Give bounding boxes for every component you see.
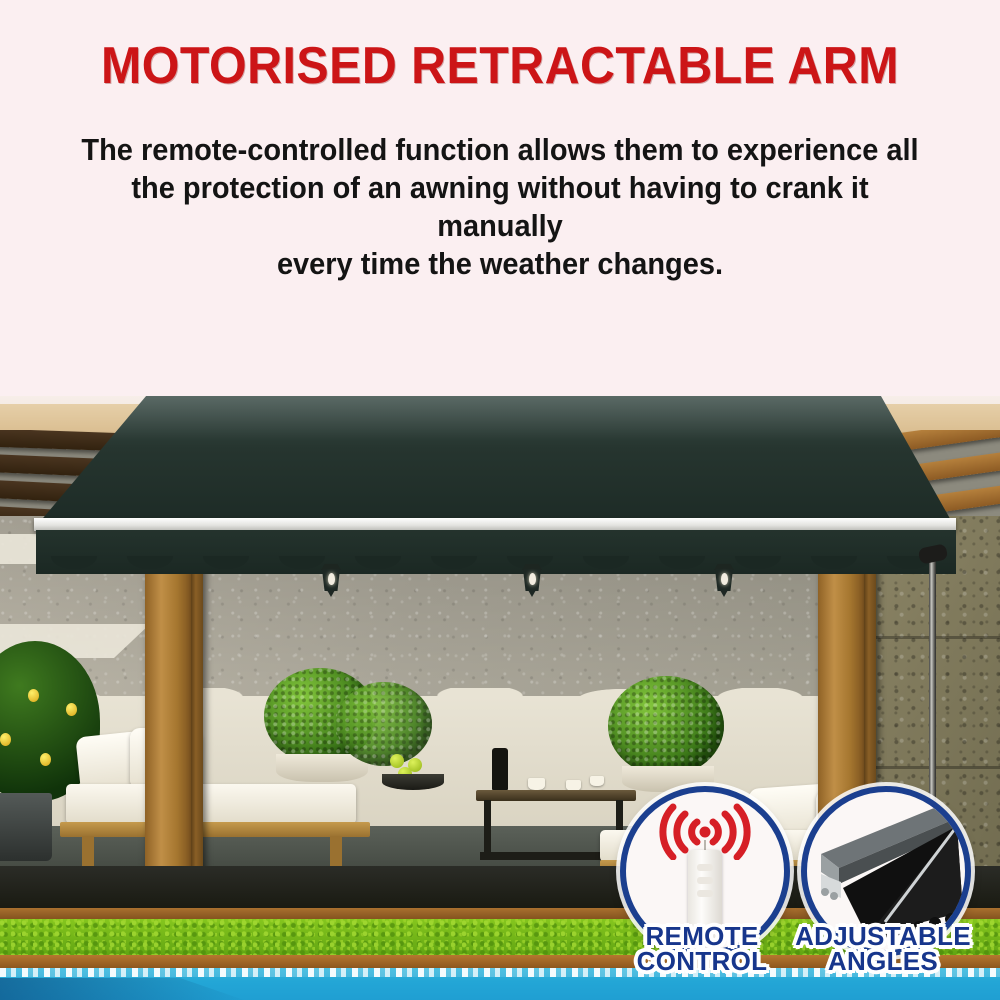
awning-highlight [38, 396, 953, 440]
wall-lantern [320, 564, 342, 598]
lantern-foot [720, 590, 728, 597]
tree-planter [0, 793, 52, 861]
lantern-foot [528, 590, 536, 597]
sofa-cushion [66, 784, 356, 824]
awning-canopy [38, 396, 953, 524]
badge-label-line-2: ANGLES [768, 949, 998, 974]
description-line-3: every time the weather changes. [73, 245, 928, 283]
description-text: The remote-controlled function allows th… [73, 131, 928, 283]
awning-scalloped-edge [36, 556, 956, 586]
topiary-ball [608, 676, 724, 776]
table-leg [484, 800, 491, 856]
fruit [390, 754, 404, 768]
lemon-fruit [40, 753, 51, 766]
page-title: MOTORISED RETRACTABLE ARM [35, 36, 965, 96]
lantern-bulb [328, 573, 335, 585]
sofa-leg [82, 836, 94, 870]
lemon-fruit [66, 703, 77, 716]
remote-button [697, 890, 713, 897]
wall-lantern [521, 564, 543, 598]
remote-button [697, 864, 713, 871]
sofa-frame [60, 822, 370, 837]
lemon-fruit [28, 689, 39, 702]
signal-center-dot [700, 827, 711, 838]
lantern-ornament [492, 748, 508, 790]
remote-button [697, 877, 713, 884]
cup [528, 778, 545, 790]
text-banner: MOTORISED RETRACTABLE ARM The remote-con… [0, 0, 1000, 396]
description-line-2: the protection of an awning without havi… [73, 169, 928, 245]
badge-label-adjustable-angles: ADJUSTABLE ANGLES [768, 924, 998, 974]
bowl [382, 774, 444, 790]
product-feature-poster: MOTORISED RETRACTABLE ARM The remote-con… [0, 0, 1000, 1000]
lemon-fruit [0, 733, 11, 746]
topiary-plant-right [608, 676, 748, 796]
sofa-leg [330, 836, 342, 870]
feature-badge-adjustable-angles[interactable]: ADJUSTABLE ANGLES [793, 786, 973, 986]
lantern-bulb [721, 573, 728, 585]
lantern-foot [327, 590, 335, 597]
fruit-bowl [372, 754, 462, 794]
description-line-1: The remote-controlled function allows th… [73, 131, 928, 169]
feature-badge-remote-control[interactable]: REMOTE CONTROL [612, 786, 792, 986]
lantern-bulb [529, 573, 536, 585]
wall-lantern [713, 564, 735, 598]
